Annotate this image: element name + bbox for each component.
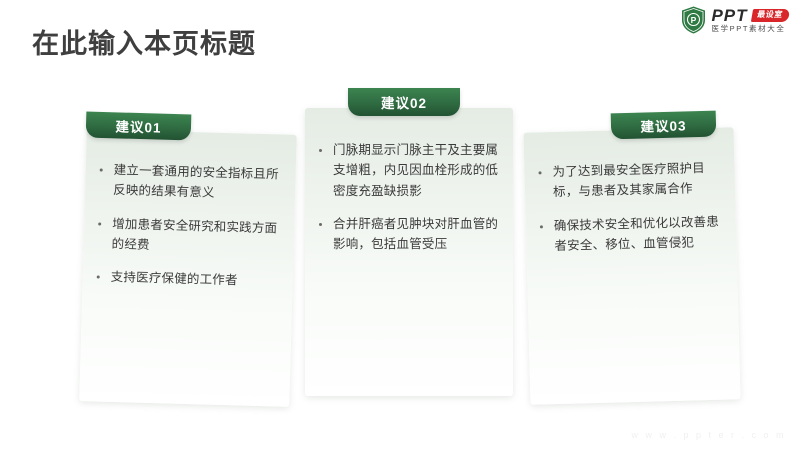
card-3-inner: 为了达到最安全医疗照护目标，与患者及其家属合作 确保技术安全和优化以改善患者安全… [523,127,740,404]
logo-primary-row: PPT 最设室 [711,7,788,24]
card-2-bullet-list: 门脉期显示门脉主干及主要属支增粗，内见因血栓形成的低密度充盈缺损影 合并肝癌者见… [315,140,499,254]
list-item: 确保技术安全和优化以改善患者安全、移位、血管侵犯 [536,211,723,256]
logo-badge: 最设室 [750,9,789,22]
svg-text:P: P [691,15,697,25]
card-2-tab-label[interactable]: 建议02 [348,88,460,116]
logo-text-block: PPT 最设室 医学PPT素材大全 [711,7,788,33]
list-item: 合并肝癌者见肿块对肝血管的影响，包括血管受压 [315,214,499,255]
card-1-bullet-list: 建立一套通用的安全指标且所反映的结果有意义 增加患者安全研究和实践方面的经费 支… [92,159,281,291]
page-title: 在此输入本页标题 [32,22,256,61]
card-3-body: 为了达到最安全医疗照护目标，与患者及其家属合作 确保技术安全和优化以改善患者安全… [524,157,736,256]
slide-root: 在此输入本页标题 P PPT 最设室 医学PPT素材大全 [0,0,800,450]
card-1-tab-label[interactable]: 建议01 [86,112,192,141]
list-item: 为了达到最安全医疗照护目标，与患者及其家属合作 [534,158,721,203]
card-2-inner: 门脉期显示门脉主干及主要属支增粗，内见因血栓形成的低密度充盈缺损影 合并肝癌者见… [305,108,513,396]
recommendation-card-1[interactable]: 建立一套通用的安全指标且所反映的结果有意义 增加患者安全研究和实践方面的经费 支… [79,129,297,407]
card-1-inner: 建立一套通用的安全指标且所反映的结果有意义 增加患者安全研究和实践方面的经费 支… [79,129,297,407]
card-3-bullet-list: 为了达到最安全医疗照护目标，与患者及其家属合作 确保技术安全和优化以改善患者安全… [534,158,722,257]
logo-wordmark: PPT [711,7,747,24]
list-item: 建立一套通用的安全指标且所反映的结果有意义 [95,159,282,205]
logo-subtitle: 医学PPT素材大全 [711,25,788,33]
card-3-tab-label[interactable]: 建议03 [611,111,717,140]
recommendation-card-3[interactable]: 为了达到最安全医疗照护目标，与患者及其家属合作 确保技术安全和优化以改善患者安全… [523,127,740,404]
brand-logo: P PPT 最设室 医学PPT素材大全 [681,6,788,34]
card-1-body: 建立一套通用的安全指标且所反映的结果有意义 增加患者安全研究和实践方面的经费 支… [82,159,295,292]
card-2-body: 门脉期显示门脉主干及主要属支增粗，内见因血栓形成的低密度充盈缺损影 合并肝癌者见… [305,140,513,254]
shield-icon: P [681,6,706,34]
list-item: 门脉期显示门脉主干及主要属支增粗，内见因血栓形成的低密度充盈缺损影 [315,140,499,201]
site-watermark: w w w . p p t e r . c o m [631,430,786,440]
recommendation-card-2[interactable]: 门脉期显示门脉主干及主要属支增粗，内见因血栓形成的低密度充盈缺损影 合并肝癌者见… [305,108,513,396]
list-item: 支持医疗保健的工作者 [92,266,278,291]
list-item: 增加患者安全研究和实践方面的经费 [93,213,280,259]
